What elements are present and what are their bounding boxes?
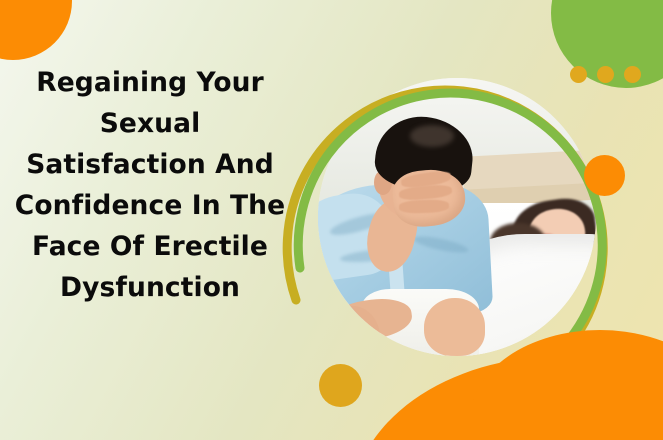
headline-line: Regaining Your	[0, 62, 300, 103]
dot-icon	[624, 66, 641, 83]
dot-icon	[597, 66, 614, 83]
headline-line: Face Of Erectile	[0, 226, 300, 267]
orange-knob-icon	[584, 155, 625, 196]
headline-line: Confidence In The	[0, 185, 300, 226]
gold-knob-icon	[319, 364, 362, 407]
headline-line: Dysfunction	[0, 267, 300, 308]
page-title: Regaining Your Sexual Satisfaction And C…	[0, 62, 300, 308]
headline-line: Satisfaction And	[0, 144, 300, 185]
dot-icon	[570, 66, 587, 83]
decorative-dots	[570, 66, 641, 83]
headline-line: Sexual	[0, 103, 300, 144]
banner: Regaining Your Sexual Satisfaction And C…	[0, 0, 663, 440]
